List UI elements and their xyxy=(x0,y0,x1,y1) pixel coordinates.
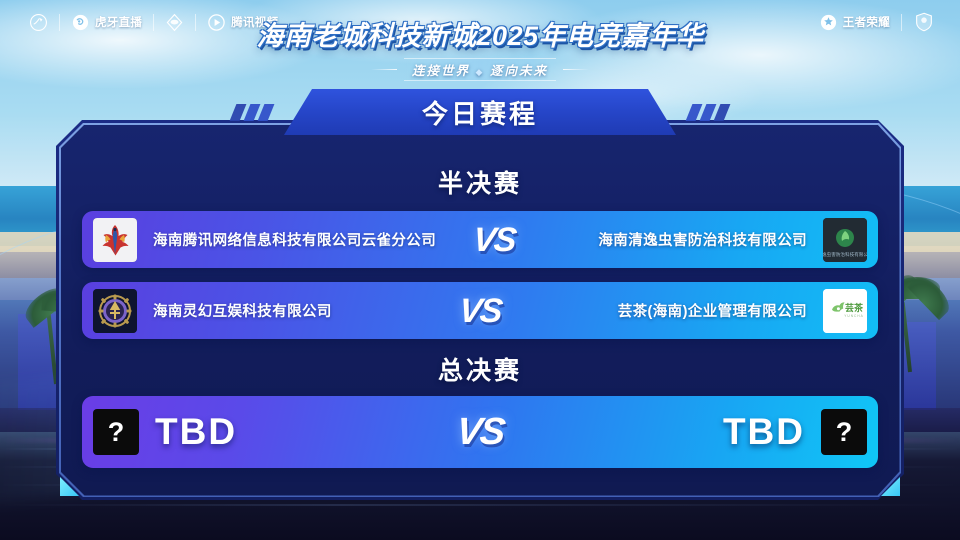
svg-text:YUNCHA: YUNCHA xyxy=(844,314,863,318)
question-mark-logo-left: ? xyxy=(93,409,139,455)
question-mark-logo-right: ? xyxy=(821,409,867,455)
vs-label: VS xyxy=(432,294,528,328)
green-leaf-icon: 清逸虫害防治科技有限公司 xyxy=(823,218,867,262)
gear-emblem-logo xyxy=(93,289,137,333)
team-name-left: 海南灵幻互娱科技有限公司 xyxy=(137,300,434,321)
subtitle-block: 连接世界 ◆ 逐向未来 xyxy=(371,58,589,81)
phoenix-bird-icon xyxy=(93,218,137,262)
gear-emblem-icon xyxy=(93,289,137,333)
yuncha-tea-icon: 芸茶 YUNCHA xyxy=(823,289,867,333)
subtitle-rule-left xyxy=(371,69,397,70)
match-row[interactable]: 海南腾讯网络信息科技有限公司云雀分公司 VS 海南清逸虫害防治科技有限公司 清逸… xyxy=(82,211,878,268)
subtitle-right-text: 逐向未来 xyxy=(490,64,548,78)
svg-text:清逸虫害防治科技有限公司: 清逸虫害防治科技有限公司 xyxy=(823,251,867,258)
today-schedule-banner: 今日赛程 xyxy=(284,89,676,135)
team-name-right: 海南清逸虫害防治科技有限公司 xyxy=(540,229,823,250)
question-mark-icon: ? xyxy=(93,409,139,455)
semifinal-heading: 半决赛 xyxy=(82,172,878,197)
final-team-name-left: TBD xyxy=(139,411,434,453)
vs-label: VS xyxy=(432,413,528,451)
match-row[interactable]: 海南灵幻互娱科技有限公司 VS 芸茶(海南)企业管理有限公司 芸茶 YUNCHA xyxy=(82,282,878,339)
svg-text:芸茶: 芸茶 xyxy=(845,302,864,313)
final-team-name-right: TBD xyxy=(526,411,821,453)
team-name-left: 海南腾讯网络信息科技有限公司云雀分公司 xyxy=(137,229,448,250)
phoenix-bird-logo xyxy=(93,218,137,262)
banner-decoration-right xyxy=(689,104,727,121)
team-name-right: 芸茶(海南)企业管理有限公司 xyxy=(526,300,823,321)
title-block: 海南老城科技新城2025年电竞嘉年华 连接世界 ◆ 逐向未来 xyxy=(0,22,960,81)
subtitle-diamond-icon: ◆ xyxy=(476,67,485,77)
green-leaf-shield-logo: 清逸虫害防治科技有限公司 xyxy=(823,218,867,262)
question-mark-icon: ? xyxy=(821,409,867,455)
yuncha-tea-logo: 芸茶 YUNCHA xyxy=(823,289,867,333)
page-title: 海南老城科技新城2025年电竞嘉年华 xyxy=(0,22,960,52)
panel-content: 半决赛 海南腾讯网络信息科技有限公司云雀分公司 VS 海南清逸虫害防治科技有限公… xyxy=(56,120,904,500)
final-heading: 总决赛 xyxy=(82,359,878,384)
vs-label: VS xyxy=(446,223,542,257)
banner-decoration-left xyxy=(233,104,271,121)
subtitle-rule-right xyxy=(563,69,589,70)
today-schedule-label: 今日赛程 xyxy=(422,94,538,131)
subtitle-left-text: 连接世界 xyxy=(412,64,470,78)
schedule-panel: 半决赛 海南腾讯网络信息科技有限公司云雀分公司 VS 海南清逸虫害防治科技有限公… xyxy=(56,120,904,500)
schedule-banner-row: 今日赛程 xyxy=(0,88,960,136)
final-match-row[interactable]: ? TBD VS TBD ? xyxy=(82,396,878,468)
subtitle-text: 连接世界 ◆ 逐向未来 xyxy=(404,58,556,81)
